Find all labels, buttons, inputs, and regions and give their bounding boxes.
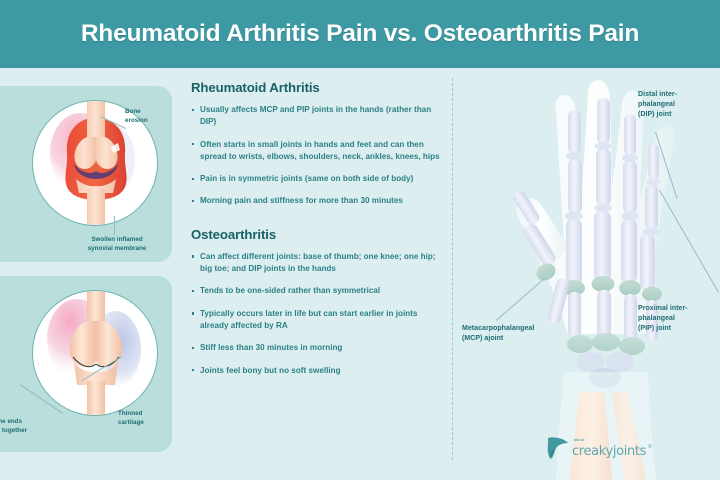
list-item: Pain is in symmetric joints (same on bot… [191,173,443,185]
list-item: Tends to be one-sided rather than symmet… [191,285,443,297]
logo-registered-mark: ® [648,444,652,450]
oa-label-thinned-cartilage: Thinned cartilage [118,410,170,427]
oa-bullet-list: Can affect different joints: base of thu… [191,251,443,377]
list-item: Often starts in small joints in hands an… [191,139,443,164]
oa-illustration-card: Bone ends rub together Thinned cartilage [0,276,172,452]
conditions-text-column: Rheumatoid Arthritis Usually affects MCP… [191,80,443,387]
ra-leader-synovium [114,216,115,234]
hand-label-pip-joint: Proximal inter- phalangeal (PIP) joint [638,304,720,334]
section-title-rheumatoid-arthritis: Rheumatoid Arthritis [191,80,443,95]
list-item: Typically occurs later in life but can s… [191,308,443,333]
page-title: Rheumatoid Arthritis Pain vs. Osteoarthr… [81,20,639,48]
hand-illustration-panel: Distal inter- phalangeal (DIP) joint Pro… [460,72,720,480]
logo-tagline: about [574,438,584,442]
logo-wordmark: creakyjoints [572,444,646,459]
section-title-osteoarthritis: Osteoarthritis [191,227,443,242]
list-item: Stiff less than 30 minutes in morning [191,342,443,354]
list-item: Morning pain and stiffness for more than… [191,195,443,207]
ra-bullet-list: Usually affects MCP and PIP joints in th… [191,104,443,208]
hand-xray-svg [460,72,720,480]
infographic-page: Rheumatoid Arthritis Pain vs. Osteoarthr… [0,0,720,480]
list-item: Can affect different joints: base of thu… [191,251,443,276]
oa-knee-svg [33,291,158,416]
ra-label-bone-erosion: Bone erosion [125,108,169,125]
ra-label-synovial-membrane: Swollen inflamed synovial membrane [62,236,172,253]
logo-mark-icon [545,434,571,462]
ra-illustration-card: Bone erosion Swollen inflamed synovial m… [0,86,172,262]
oa-knee-diagram [32,290,158,416]
oa-label-bone-ends: Bone ends rub together [0,418,60,435]
column-divider [452,78,453,460]
list-item: Usually affects MCP and PIP joints in th… [191,104,443,129]
hand-label-dip-joint: Distal inter- phalangeal (DIP) joint [638,90,720,120]
list-item: Joints feel bony but no soft swelling [191,365,443,377]
creakyjoints-logo: about creakyjoints ® [545,432,655,466]
header-banner: Rheumatoid Arthritis Pain vs. Osteoarthr… [0,0,720,68]
hand-label-mcp-joint: Metacarpophalangeal (MCP) ajoint [462,324,574,344]
